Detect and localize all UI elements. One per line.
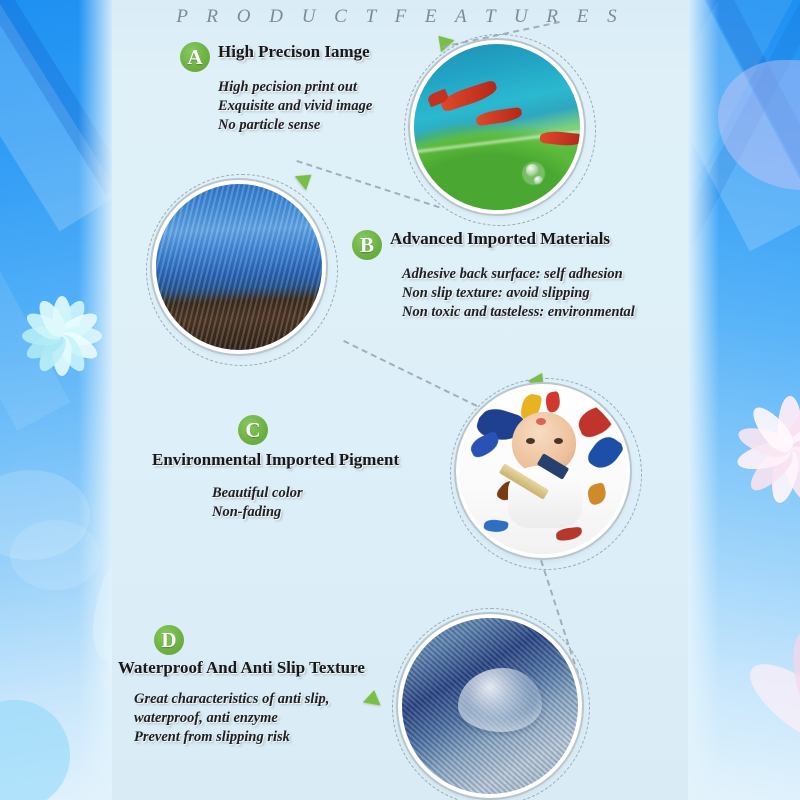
feature-line: Exquisite and vivid image: [218, 97, 372, 116]
photo-blue-fabric-material: [156, 184, 322, 350]
feature-badge-b: B: [352, 230, 382, 260]
feature-line: High pecision print out: [218, 78, 372, 97]
feature-line: waterproof, anti enzyme: [134, 709, 329, 728]
feature-lines-a: High pecision print out Exquisite and vi…: [218, 78, 372, 135]
feature-line: No particle sense: [218, 116, 372, 135]
feature-lines-b: Adhesive back surface: self adhesion Non…: [402, 265, 635, 322]
feature-line: Prevent from slipping risk: [134, 728, 329, 747]
feature-line: Non-fading: [212, 503, 303, 522]
feature-heading-b: Advanced Imported Materials: [390, 229, 610, 249]
feature-badge-d: D: [154, 625, 184, 655]
feature-line: Non slip texture: avoid slipping: [402, 284, 635, 303]
photo-baby-with-paintbrush: [460, 388, 626, 554]
photo-waterproof-droplet: [402, 618, 578, 794]
feature-heading-a: High Precison Iamge: [218, 42, 370, 62]
feature-lines-c: Beautiful color Non-fading: [212, 484, 303, 522]
feature-line: Adhesive back surface: self adhesion: [402, 265, 635, 284]
product-features-infographic: P R O D U C T F E A T U R E S A High Pre…: [0, 0, 800, 800]
photo-printed-koi-image: [414, 44, 580, 210]
feature-lines-d: Great characteristics of anti slip, wate…: [134, 690, 329, 747]
feature-badge-c: C: [238, 415, 268, 445]
page-title: P R O D U C T F E A T U R E S: [112, 6, 688, 28]
right-decorative-border: [688, 0, 800, 800]
arrow-icon-d: [363, 689, 383, 706]
feature-heading-c: Environmental Imported Pigment: [152, 450, 399, 470]
left-decorative-border: [0, 0, 112, 800]
feature-badge-a: A: [180, 42, 210, 72]
feature-line: Non toxic and tasteless: environmental: [402, 303, 635, 322]
feature-line: Great characteristics of anti slip,: [134, 690, 329, 709]
center-content-panel: P R O D U C T F E A T U R E S A High Pre…: [112, 0, 688, 800]
feature-line: Beautiful color: [212, 484, 303, 503]
feature-heading-d: Waterproof And Anti Slip Texture: [118, 658, 365, 678]
